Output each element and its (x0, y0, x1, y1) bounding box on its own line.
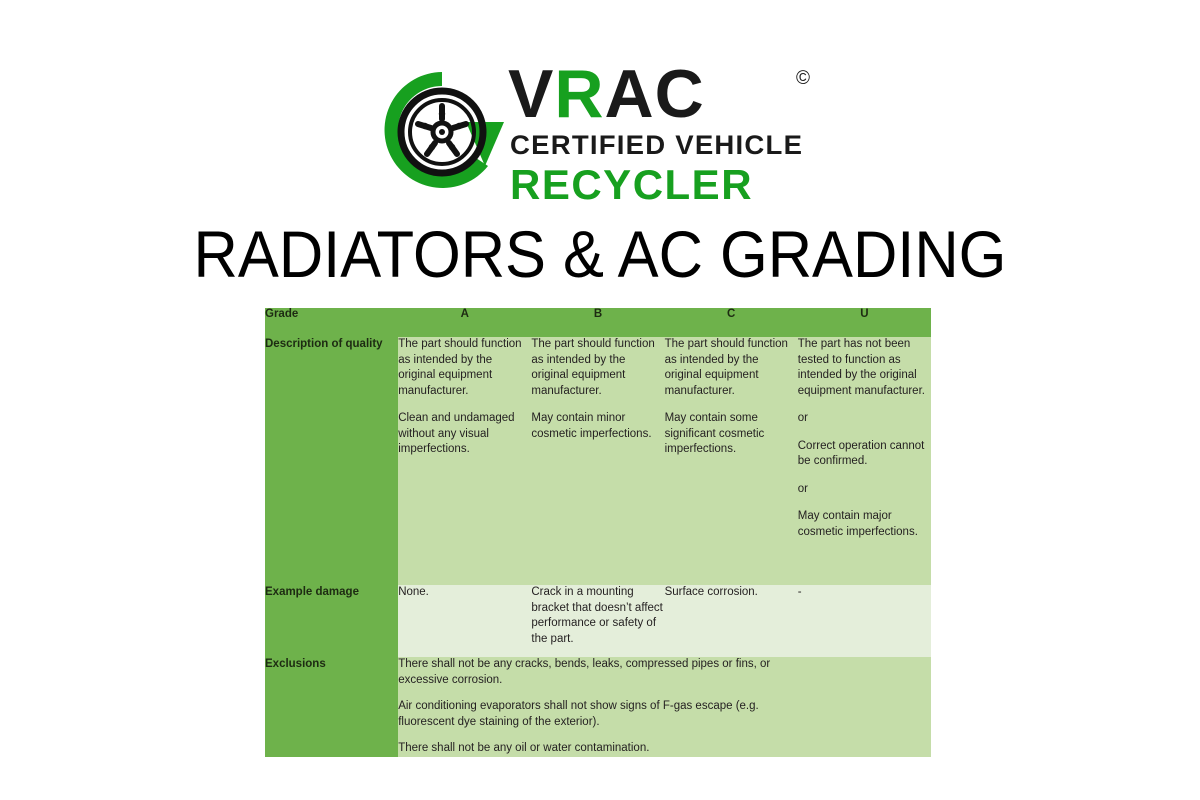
header-grade-label: Grade (265, 308, 398, 337)
cell-paragraph: There shall not be any cracks, bends, le… (398, 657, 798, 688)
cell-paragraph: May contain major cosmetic imperfections… (798, 509, 931, 540)
header-grade-b: B (531, 308, 664, 337)
cell-paragraph: Clean and undamaged without any visual i… (398, 411, 531, 458)
cell-paragraph: May contain some significant cosmetic im… (665, 411, 798, 458)
row-label-description-of-quality: Description of quality (265, 337, 398, 585)
cell-paragraph: Surface corrosion. (665, 585, 798, 601)
cell-paragraph: The part should function as intended by … (531, 337, 664, 399)
cell-paragraph: The part should function as intended by … (398, 337, 531, 399)
cell-description-a: The part should function as intended by … (398, 337, 531, 585)
table-row-example-damage: Example damage None. Crack in a mounting… (265, 585, 931, 657)
cell-paragraph: The part should function as intended by … (665, 337, 798, 399)
row-label-exclusions: Exclusions (265, 657, 398, 757)
cell-paragraph: - (798, 585, 931, 601)
cell-description-u: The part has not been tested to function… (798, 337, 931, 585)
cell-example-damage-b: Crack in a mounting bracket that doesn’t… (531, 585, 664, 657)
cell-description-c: The part should function as intended by … (665, 337, 798, 585)
cell-paragraph: Correct operation cannot be confirmed. (798, 439, 931, 470)
cell-paragraph: The part has not been tested to function… (798, 337, 931, 399)
cell-paragraph: There shall not be any oil or water cont… (398, 741, 798, 757)
logo-letters-ac: AC (604, 56, 704, 132)
logo-tagline-recycler: RECYCLER (510, 161, 753, 209)
cell-exclusions-merged: There shall not be any cracks, bends, le… (398, 657, 798, 757)
page-title: RADIATORS & AC GRADING (42, 218, 1158, 290)
logo-tagline-certified-vehicle: CERTIFIED VEHICLE (510, 130, 803, 161)
grading-table: Grade A B C U Description of quality The… (265, 308, 931, 757)
cell-paragraph: May contain minor cosmetic imperfections… (531, 411, 664, 442)
cell-description-b: The part should function as intended by … (531, 337, 664, 585)
recycling-wheel-logo-icon (378, 66, 510, 196)
logo-wordmark-vrac: VRAC (508, 60, 705, 128)
logo-letter-r: R (554, 56, 604, 132)
cell-paragraph: None. (398, 585, 531, 601)
header-grade-c: C (665, 308, 798, 337)
cell-example-damage-a: None. (398, 585, 531, 657)
table-row-description-of-quality: Description of quality The part should f… (265, 337, 931, 585)
cell-paragraph: Crack in a mounting bracket that doesn’t… (531, 585, 664, 647)
table-row-exclusions: Exclusions There shall not be any cracks… (265, 657, 931, 757)
header-grade-u: U (798, 308, 931, 337)
cell-paragraph: or (798, 482, 931, 498)
cell-example-damage-c: Surface corrosion. (665, 585, 798, 657)
cell-exclusions-u (798, 657, 931, 757)
header-grade-a: A (398, 308, 531, 337)
cell-paragraph: Air conditioning evaporators shall not s… (398, 699, 798, 730)
row-label-example-damage: Example damage (265, 585, 398, 657)
cell-paragraph: or (798, 411, 931, 427)
cell-example-damage-u: - (798, 585, 931, 657)
logo-wordmark: VRAC © CERTIFIED VEHICLE RECYCLER (508, 58, 838, 203)
copyright-icon: © (796, 68, 810, 90)
logo-letter-v: V (508, 56, 554, 132)
vrac-logo: VRAC © CERTIFIED VEHICLE RECYCLER (378, 58, 838, 203)
table-header-row: Grade A B C U (265, 308, 931, 337)
